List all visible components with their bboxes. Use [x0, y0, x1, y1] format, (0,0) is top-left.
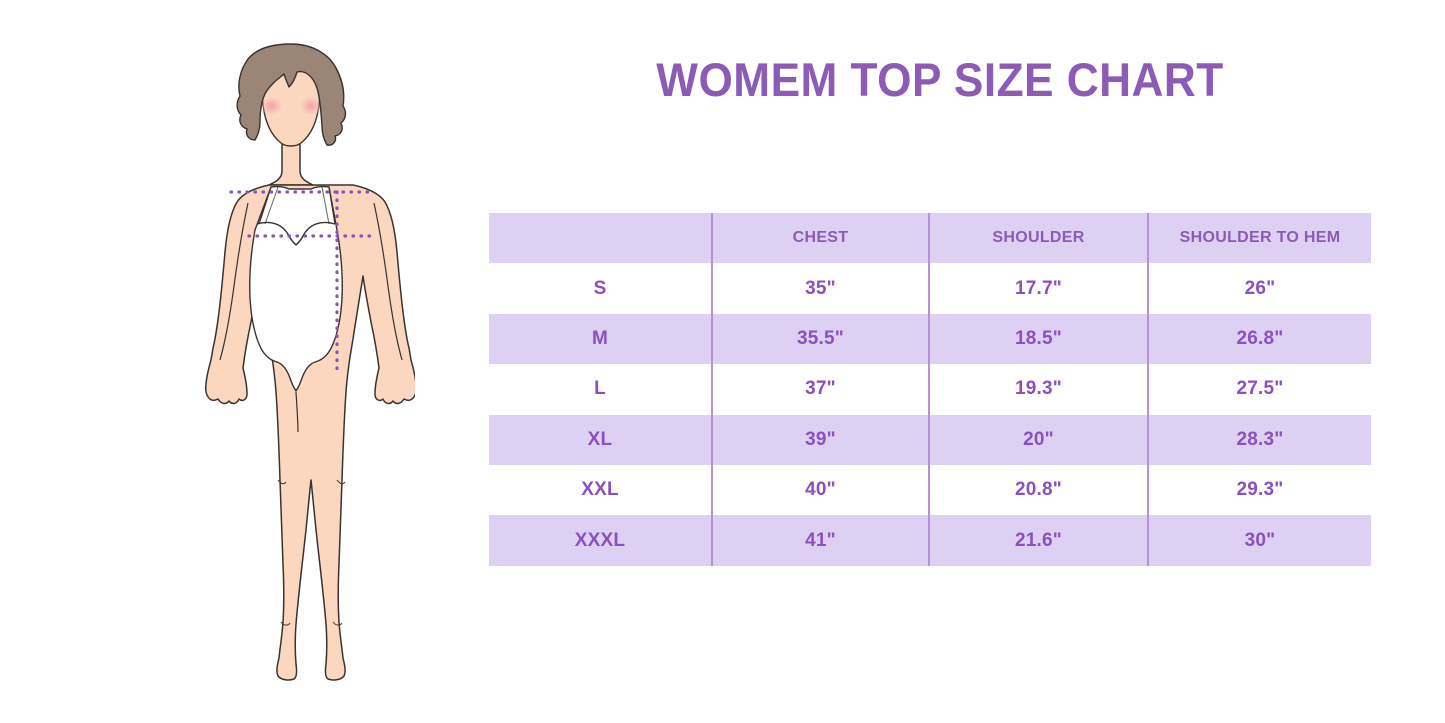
- cell-chest: 35.5": [712, 314, 929, 364]
- cell-shoulder-to-hem: 27.5": [1148, 364, 1371, 414]
- cell-chest: 39": [712, 415, 929, 465]
- size-chart-page: SHOULDER CHEST SHOULDER TO HEM WOMEM TOP…: [0, 0, 1445, 723]
- cell-size: XXXL: [489, 515, 712, 565]
- female-body-figure: [185, 40, 415, 690]
- cell-size: S: [489, 263, 712, 313]
- cell-shoulder-to-hem: 30": [1148, 515, 1371, 565]
- cell-shoulder: 20": [929, 415, 1148, 465]
- column-header-chest: CHEST: [712, 213, 929, 263]
- cell-shoulder-to-hem: 29.3": [1148, 465, 1371, 515]
- page-title: WOMEM TOP SIZE CHART: [498, 52, 1382, 107]
- illustration-panel: SHOULDER CHEST SHOULDER TO HEM: [0, 0, 470, 723]
- table-row: XXXL41"21.6"30": [489, 515, 1371, 565]
- column-header-shoulder: SHOULDER: [929, 213, 1148, 263]
- cell-shoulder-to-hem: 26.8": [1148, 314, 1371, 364]
- cell-chest: 37": [712, 364, 929, 414]
- table-row: XXL40"20.8"29.3": [489, 465, 1371, 515]
- table-row: M35.5"18.5"26.8": [489, 314, 1371, 364]
- cell-shoulder-to-hem: 26": [1148, 263, 1371, 313]
- table-header-row: CHEST SHOULDER SHOULDER TO HEM: [489, 213, 1371, 263]
- size-table-container: CHEST SHOULDER SHOULDER TO HEM S35"17.7"…: [489, 213, 1371, 569]
- size-table: CHEST SHOULDER SHOULDER TO HEM S35"17.7"…: [489, 213, 1371, 566]
- cell-shoulder: 20.8": [929, 465, 1148, 515]
- cell-size: XXL: [489, 465, 712, 515]
- column-header-size: [489, 213, 712, 263]
- cell-chest: 40": [712, 465, 929, 515]
- table-row: S35"17.7"26": [489, 263, 1371, 313]
- cell-shoulder-to-hem: 28.3": [1148, 415, 1371, 465]
- cell-chest: 35": [712, 263, 929, 313]
- table-body: S35"17.7"26"M35.5"18.5"26.8"L37"19.3"27.…: [489, 263, 1371, 565]
- cell-shoulder: 19.3": [929, 364, 1148, 414]
- table-row: L37"19.3"27.5": [489, 364, 1371, 414]
- cell-size: L: [489, 364, 712, 414]
- table-row: XL39"20"28.3": [489, 415, 1371, 465]
- cell-size: M: [489, 314, 712, 364]
- cell-shoulder: 18.5": [929, 314, 1148, 364]
- cell-shoulder: 21.6": [929, 515, 1148, 565]
- cell-shoulder: 17.7": [929, 263, 1148, 313]
- column-header-shoulder-to-hem: SHOULDER TO HEM: [1148, 213, 1371, 263]
- cell-chest: 41": [712, 515, 929, 565]
- cell-size: XL: [489, 415, 712, 465]
- table-header: CHEST SHOULDER SHOULDER TO HEM: [489, 213, 1371, 263]
